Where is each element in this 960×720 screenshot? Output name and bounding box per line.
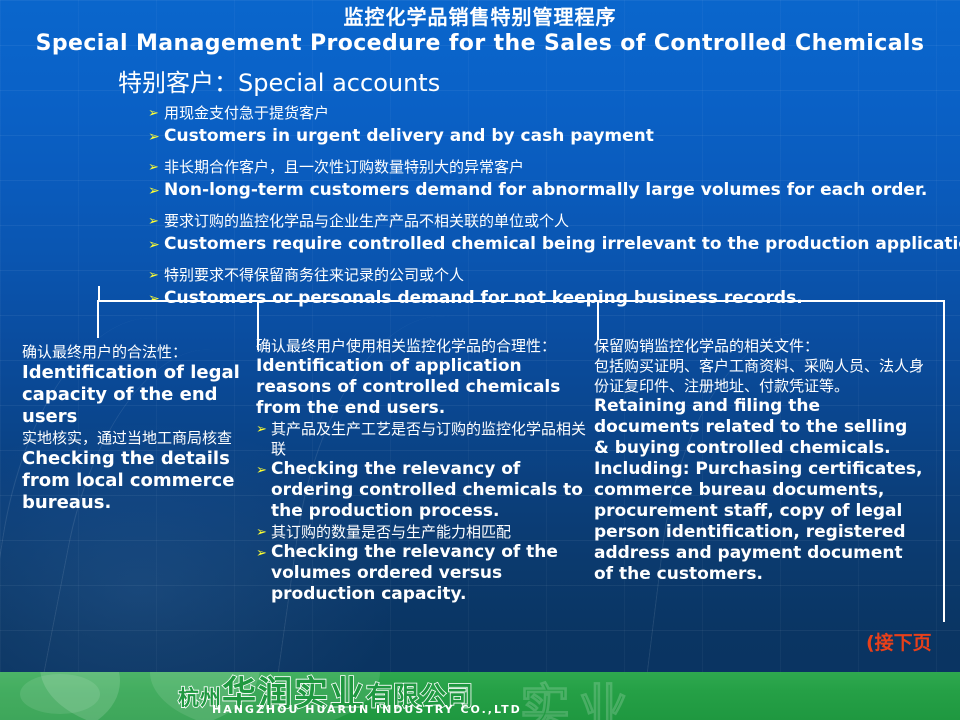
slide-title-chinese: 监控化学品销售特别管理程序 [0, 4, 960, 30]
column-text-line: Including: Purchasing certificates, comm… [594, 459, 924, 585]
bullet-item: Non-long-term customers demand for abnor… [148, 178, 960, 202]
bullet-item: 要求订购的监控化学品与企业生产产品不相关联的单位或个人 [148, 211, 960, 232]
slide-title-english: Special Management Procedure for the Sal… [0, 30, 960, 58]
column-document-retention: 保留购销监控化学品的相关文件：包括购买证明、客户工商资料、采购人员、法人身份证复… [594, 336, 924, 585]
column-bullet-line: 其订购的数量是否与生产能力相匹配 [256, 522, 586, 542]
special-accounts-bullet-list: 用现金支付急于提货客户Customers in urgent delivery … [148, 103, 960, 310]
procedure-columns: 确认最终用户的合法性：Identification of legal capac… [0, 336, 960, 666]
bullet-item: 用现金支付急于提货客户 [148, 103, 960, 124]
bullet-item: 非长期合作客户，且一次性订购数量特别大的异常客户 [148, 157, 960, 178]
company-footer-band: 实业 杭州华润实业有限公司 HANGZHOU HUARUN INDUSTRY C… [0, 672, 960, 720]
column-bullet-line: 其产品及生产工艺是否与订购的监控化学品相关联 [256, 419, 586, 459]
column-bullet-line: Checking the relevancy of the volumes or… [256, 542, 586, 605]
slide-title-block: 监控化学品销售特别管理程序 Special Management Procedu… [0, 4, 960, 58]
footer-bubble [20, 674, 100, 714]
connector-stem [98, 286, 100, 301]
bullet-item: 特别要求不得保留商务往来记录的公司或个人 [148, 265, 960, 286]
column-text-line: 实地核实，通过当地工商局核查 [22, 428, 248, 448]
column-text-line: Checking the details from local commerce… [22, 448, 248, 514]
continued-next-page-note: (接下页 [866, 628, 932, 655]
column-text-line: 保留购销监控化学品的相关文件： [594, 336, 924, 356]
bullet-item: Customers or personals demand for not ke… [148, 286, 960, 310]
column-text-line: Retaining and filing the documents relat… [594, 396, 924, 459]
section-heading: 特别客户：Special accounts [118, 68, 440, 98]
slide-canvas: 监控化学品销售特别管理程序 Special Management Procedu… [0, 0, 960, 720]
footer-ghost-watermark: 实业 [520, 672, 636, 720]
column-text-line: Identification of legal capacity of the … [22, 362, 248, 428]
bullet-item: Customers in urgent delivery and by cash… [148, 124, 960, 148]
bullet-item: Customers require controlled chemical be… [148, 232, 960, 256]
column-bullet-line: Checking the relevancy of ordering contr… [256, 459, 586, 522]
connector-drop-column-1 [97, 300, 99, 338]
column-text-line: 包括购买证明、客户工商资料、采购人员、法人身份证复印件、注册地址、付款凭证等。 [594, 356, 924, 396]
column-legal-capacity: 确认最终用户的合法性：Identification of legal capac… [22, 342, 248, 514]
column-text-line: 确认最终用户使用相关监控化学品的合理性： [256, 336, 586, 356]
column-text-line: Identification of application reasons of… [256, 356, 586, 419]
company-logo-english: HANGZHOU HUARUN INDUSTRY CO.,LTD [212, 703, 522, 716]
column-text-line: 确认最终用户的合法性： [22, 342, 248, 362]
column-application-reasons: 确认最终用户使用相关监控化学品的合理性：Identification of ap… [256, 336, 586, 605]
